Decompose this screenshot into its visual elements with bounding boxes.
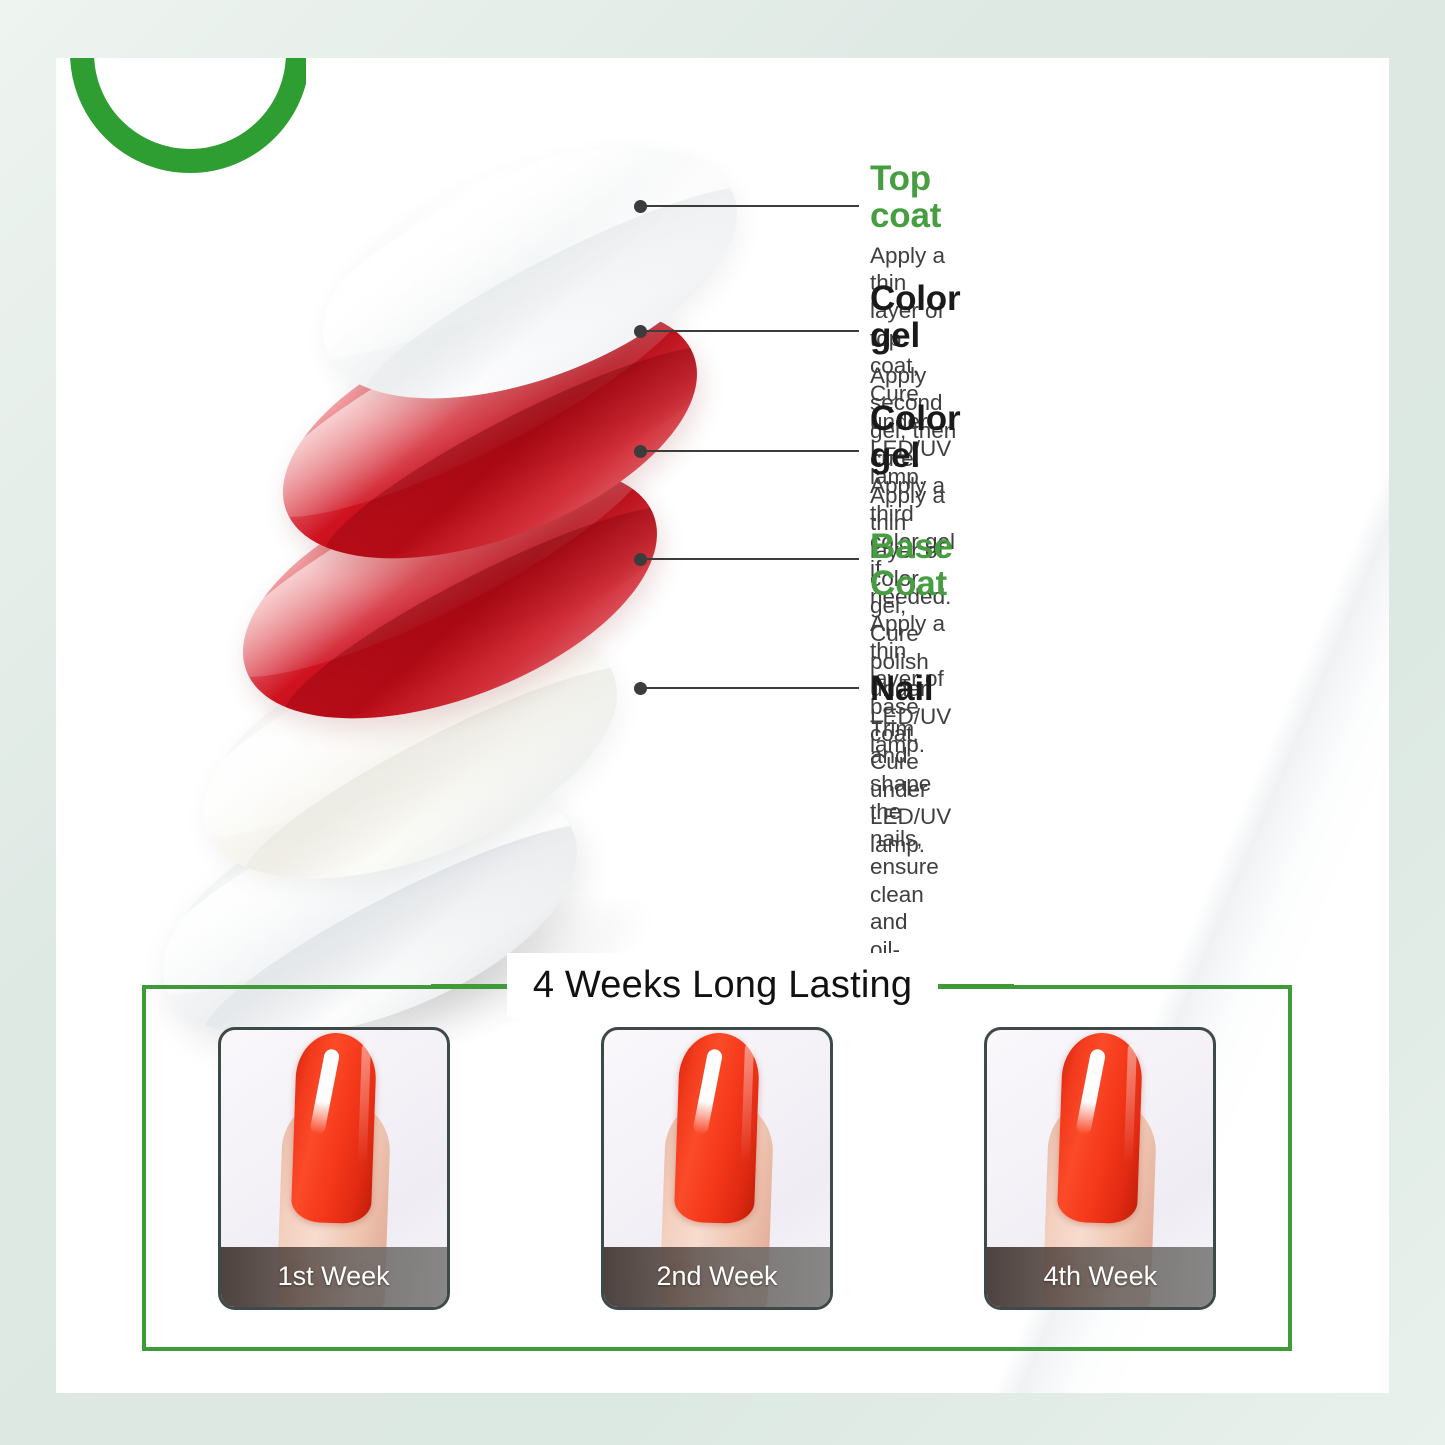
callout-title: Color gel xyxy=(870,401,960,475)
leader-line-base-coat xyxy=(641,558,859,560)
callout-title: Nail xyxy=(870,671,939,708)
green-arc-decoration-wrap xyxy=(56,58,306,186)
leader-line-top-coat xyxy=(641,205,859,207)
week-thumbnail-caption: 4th Week xyxy=(987,1247,1213,1307)
callout-title: Base Coat xyxy=(870,529,953,603)
red-nail-illustration xyxy=(674,1031,761,1224)
week-thumbnail-caption: 2nd Week xyxy=(604,1247,830,1307)
weeks-thumbnail-row: 1st Week 2nd Week xyxy=(142,985,1292,1351)
leader-dot-icon xyxy=(634,200,647,213)
leader-line-nail xyxy=(641,687,859,689)
callout-title: Top coat xyxy=(870,161,951,235)
week-thumbnail-caption: 1st Week xyxy=(221,1247,447,1307)
leader-dot-icon xyxy=(634,445,647,458)
nail-shine-highlight xyxy=(692,1048,723,1135)
callout-text-nail: Nail Trim and shape the nails, ensure cl… xyxy=(870,671,939,991)
callout-title: Color gel xyxy=(870,281,960,355)
nail-edge-highlight xyxy=(1123,1043,1137,1193)
nail-shine-highlight xyxy=(309,1048,340,1135)
callout-body-line2: ensure clean and oil-free. xyxy=(870,854,939,990)
leader-dot-icon xyxy=(634,553,647,566)
nail-edge-highlight xyxy=(740,1043,754,1193)
week-thumbnail-3[interactable]: 4th Week xyxy=(984,1027,1216,1310)
white-content-card: Top coat Apply a thin layer of top coat,… xyxy=(56,58,1389,1393)
leader-dot-icon xyxy=(634,682,647,695)
week-thumbnail-2[interactable]: 2nd Week xyxy=(601,1027,833,1310)
callout-body-line1: Trim and shape the nails, xyxy=(870,716,931,852)
nail-shine-highlight xyxy=(1076,1048,1107,1135)
nail-edge-highlight xyxy=(356,1043,370,1193)
callout-body: Trim and shape the nails, ensure clean a… xyxy=(870,715,939,992)
leader-dot-icon xyxy=(634,325,647,338)
leader-line-color-gel-bottom xyxy=(641,450,859,452)
leader-line-color-gel-top xyxy=(641,330,859,332)
red-nail-illustration xyxy=(1057,1031,1144,1224)
page-root: Top coat Apply a thin layer of top coat,… xyxy=(0,0,1445,1445)
week-thumbnail-1[interactable]: 1st Week xyxy=(218,1027,450,1310)
green-half-ring-icon xyxy=(70,58,306,173)
red-nail-illustration xyxy=(290,1031,377,1224)
